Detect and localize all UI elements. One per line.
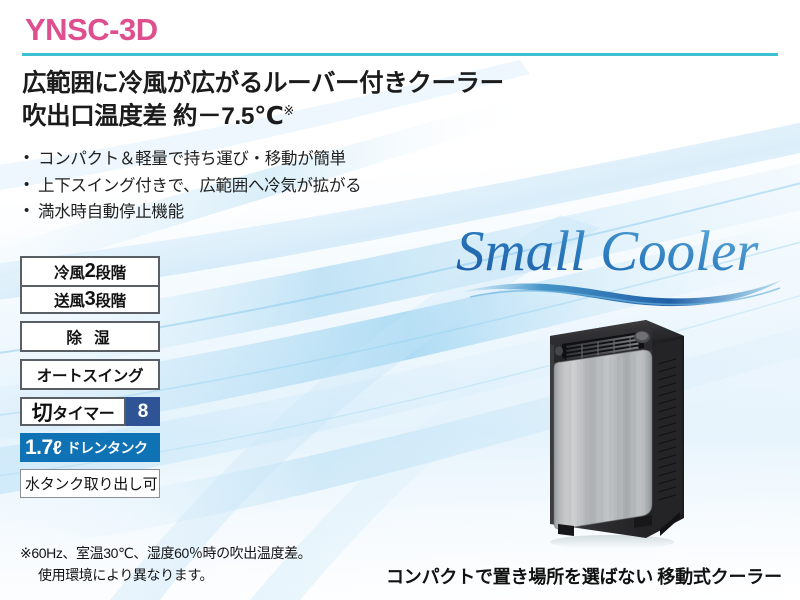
spec-badge-list: 冷風2段階 送風3段階 除 湿 オートスイング 切タイマー 8 1.7ℓ ドレン… bbox=[20, 256, 160, 505]
indicator-light bbox=[555, 346, 563, 355]
badge-cool-air-suffix: 段階 bbox=[95, 261, 125, 283]
list-item-label: コンパクト＆軽量で持ち運び・移動が簡単 bbox=[38, 146, 494, 173]
badge-blow-air-suffix: 段階 bbox=[95, 289, 125, 311]
footnote: ※60Hz、室温30℃、湿度60％時の吹出温度差。 使用環境により異なります。 bbox=[20, 543, 420, 586]
badge-blow-air-prefix: 送風 bbox=[54, 289, 84, 311]
footnote-mark: ※ bbox=[283, 102, 294, 117]
headline-line-2: 吹出口温度差 約－7.5℃※ bbox=[22, 101, 742, 134]
footnote-line-1: ※60Hz、室温30℃、湿度60％時の吹出温度差。 bbox=[20, 543, 420, 565]
badge-drain-tank-label: ドレンタンク bbox=[67, 438, 148, 458]
headline: 広範囲に冷風が広がるルーバー付きクーラー 吹出口温度差 約－7.5℃※ bbox=[22, 68, 742, 133]
advertisement-banner: YNSC-3D 広範囲に冷風が広がるルーバー付きクーラー 吹出口温度差 約－7.… bbox=[0, 0, 800, 600]
badge-group-removable-tank: 水タンク取り出し可 bbox=[20, 469, 160, 498]
product-image-portable-cooler bbox=[534, 306, 704, 550]
badge-drain-tank-capacity: 1.7ℓ bbox=[25, 437, 62, 458]
badge-group-fan-stages: 冷風2段階 送風3段階 bbox=[20, 256, 160, 314]
badge-cool-air-prefix: 冷風 bbox=[54, 261, 84, 283]
badge-off-timer-cut: 切 bbox=[32, 397, 53, 427]
feature-list: • コンパクト＆軽量で持ち運び・移動が簡単 • 上下スイング付きで、広範囲へ冷気… bbox=[24, 146, 494, 226]
footnote-line-2: 使用環境により異なります。 bbox=[20, 565, 420, 587]
list-item-label: 上下スイング付きで、広範囲へ冷気が拡がる bbox=[38, 173, 494, 200]
badge-group-drain-tank: 1.7ℓ ドレンタンク bbox=[20, 433, 160, 462]
badge-off-timer-text: タイマー bbox=[52, 400, 114, 424]
badge-drain-tank-unit: ℓ bbox=[53, 438, 62, 459]
page-title: YNSC-3D bbox=[25, 14, 158, 45]
foot-left bbox=[558, 524, 574, 536]
small-cooler-logo: Small Cooler bbox=[452, 214, 788, 310]
headline-temperature: 吹出口温度差 約－7.5℃ bbox=[22, 103, 283, 130]
list-item: • 上下スイング付きで、広範囲へ冷気が拡がる bbox=[24, 173, 494, 200]
badge-auto-swing-label: オートスイング bbox=[22, 361, 158, 388]
bullet-icon: • bbox=[24, 146, 38, 170]
badge-group-off-timer: 切タイマー 8 bbox=[20, 397, 160, 426]
badge-removable-tank-label: 水タンク取り出し可 bbox=[21, 470, 159, 497]
list-item: • コンパクト＆軽量で持ち運び・移動が簡単 bbox=[24, 146, 494, 173]
badge-cool-air-stages: 冷風2段階 bbox=[22, 258, 158, 285]
badge-dehumidify-label: 除 湿 bbox=[22, 323, 158, 350]
bullet-icon: • bbox=[24, 173, 38, 197]
list-item-label: 満水時自動停止機能 bbox=[38, 199, 494, 226]
logo-wave-swoosh bbox=[462, 280, 782, 306]
badge-off-timer-hours: 8 bbox=[126, 397, 160, 426]
bullet-icon: • bbox=[24, 199, 38, 223]
badge-group-dehumidify: 除 湿 bbox=[20, 321, 160, 352]
badge-cool-air-count: 2 bbox=[85, 260, 96, 283]
headline-line-1: 広範囲に冷風が広がるルーバー付きクーラー bbox=[22, 68, 742, 101]
badge-drain-tank-value: 1.7 bbox=[25, 436, 53, 459]
badge-off-timer-label: 切タイマー bbox=[20, 397, 126, 426]
title-divider bbox=[22, 53, 778, 56]
badge-group-auto-swing: オートスイング bbox=[20, 359, 160, 390]
small-cooler-wordmark: Small Cooler bbox=[456, 220, 759, 283]
badge-blow-air-count: 3 bbox=[85, 288, 96, 311]
list-item: • 満水時自動停止機能 bbox=[24, 199, 494, 226]
badge-blow-air-stages: 送風3段階 bbox=[22, 285, 158, 312]
product-caption: コンパクトで置き場所を選ばない 移動式クーラー bbox=[386, 563, 786, 589]
